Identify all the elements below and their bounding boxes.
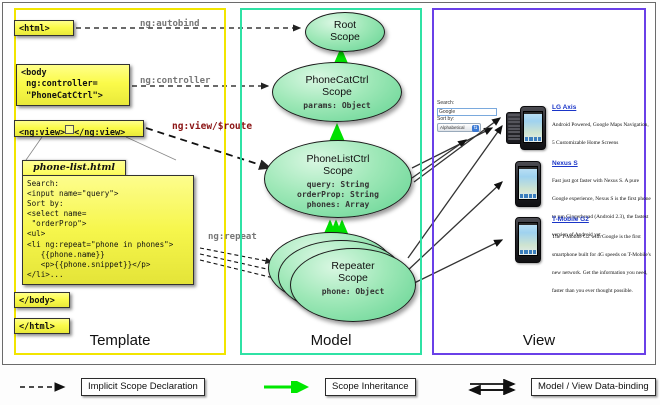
phone-snippet: Android Powered, Google Maps Navigation,…	[552, 122, 649, 146]
scope-repeater-fields: phone: Object	[291, 287, 415, 297]
scope-phonelistctrl: PhoneListCtrl Scope query: String orderP…	[264, 140, 412, 218]
template-file-name: phone-list.html	[22, 160, 126, 176]
edge-label-controller: ng:controller	[140, 76, 210, 86]
scope-repeater-title-line2: Scope	[291, 273, 415, 285]
scope-repeater: Repeater Scope phone: Object	[290, 248, 416, 322]
panel-model-label: Model	[242, 332, 420, 349]
phone-body	[515, 161, 541, 207]
template-file-code: Search: <input name="query"> Sort by: <s…	[22, 175, 194, 285]
code-box-body-open: <body ng:controller= "PhoneCatCtrl">	[16, 64, 130, 106]
phone-thumbnail-slider	[506, 104, 546, 150]
sort-select-value: Alphabetical	[440, 125, 465, 130]
legend-label-implicit-scope: Implicit Scope Declaration	[81, 378, 205, 395]
scope-phonecatctrl-title-line1: PhoneCatCtrl	[273, 75, 401, 87]
phone-body	[515, 217, 541, 263]
legend-item-data-binding: Model / View Data-binding	[468, 377, 656, 397]
view-phone-row: LG Axis Android Powered, Google Maps Nav…	[506, 104, 652, 150]
phone-thumbnail-candybar	[506, 216, 546, 262]
legend-label-data-binding: Model / View Data-binding	[531, 378, 656, 395]
ng-view-close-tag: </ng:view>	[74, 128, 125, 138]
ng-view-open-tag: <ng:view>	[19, 128, 65, 138]
double-arrow-icon	[468, 379, 524, 395]
template-file-note: phone-list.html Search: <input name="que…	[22, 160, 194, 286]
view-phone-row: T-Mobile G2 The T-Mobile G2 with Google …	[506, 216, 652, 297]
scope-root-title-line1: Root	[306, 20, 384, 32]
phone-screen	[523, 111, 543, 143]
panel-view-label: View	[434, 332, 644, 349]
search-input[interactable]: Google	[437, 108, 497, 116]
scope-phonecatctrl-title-line2: Scope	[273, 87, 401, 99]
scope-phonelistctrl-title-line2: Scope	[265, 166, 411, 178]
scope-phonecatctrl: PhoneCatCtrl Scope params: Object	[272, 62, 402, 122]
phone-screen	[518, 166, 538, 200]
phone-snippet: The T-Mobile G2 with Google is the first…	[552, 234, 651, 294]
diagram-canvas: Template <html> <body ng:controller= "Ph…	[0, 0, 660, 405]
chevron-updown-icon: ⇅	[472, 125, 479, 132]
scope-root-title-line2: Scope	[306, 32, 384, 44]
green-arrow-icon	[262, 381, 318, 393]
phone-name-link[interactable]: T-Mobile G2	[552, 216, 652, 223]
phone-screen	[518, 222, 538, 256]
code-box-html-close: </html>	[14, 318, 70, 334]
code-box-body-close: </body>	[14, 292, 70, 308]
scope-repeater-title-line1: Repeater	[291, 261, 415, 273]
search-label: Search:	[437, 100, 501, 108]
phone-info: LG Axis Android Powered, Google Maps Nav…	[552, 104, 652, 149]
ng-view-placeholder-icon	[65, 125, 74, 134]
dashed-arrow-icon	[18, 381, 74, 393]
code-box-ng-view: <ng:view></ng:view>	[14, 120, 144, 137]
phone-name-link[interactable]: Nexus S	[552, 160, 652, 167]
legend: Implicit Scope Declaration Scope Inherit…	[0, 372, 660, 405]
legend-item-implicit-scope: Implicit Scope Declaration	[18, 377, 205, 397]
scope-phonecatctrl-fields: params: Object	[273, 101, 401, 111]
panel-template-label: Template	[16, 332, 224, 349]
legend-item-scope-inheritance: Scope Inheritance	[262, 377, 416, 397]
scope-phonelistctrl-fields: query: String orderProp: String phones: …	[265, 180, 411, 210]
scope-repeater-stack: Repeater Scope phone: Object	[268, 232, 420, 328]
sort-select[interactable]: Alphabetical ⇅	[437, 123, 481, 132]
code-box-html-open: <html>	[14, 20, 74, 36]
phone-name-link[interactable]: LG Axis	[552, 104, 652, 111]
edge-label-autobind: ng:autobind	[140, 19, 200, 29]
view-search-widget: Search: Google Sort by: Alphabetical ⇅	[437, 100, 501, 142]
scope-root: Root Scope	[305, 12, 385, 52]
sort-label: Sort by:	[437, 116, 501, 124]
phone-thumbnail-candybar	[506, 160, 546, 206]
phone-body	[520, 106, 546, 150]
scope-phonelistctrl-title-line1: PhoneListCtrl	[265, 154, 411, 166]
phone-info: T-Mobile G2 The T-Mobile G2 with Google …	[552, 216, 652, 297]
legend-label-scope-inheritance: Scope Inheritance	[325, 378, 416, 395]
